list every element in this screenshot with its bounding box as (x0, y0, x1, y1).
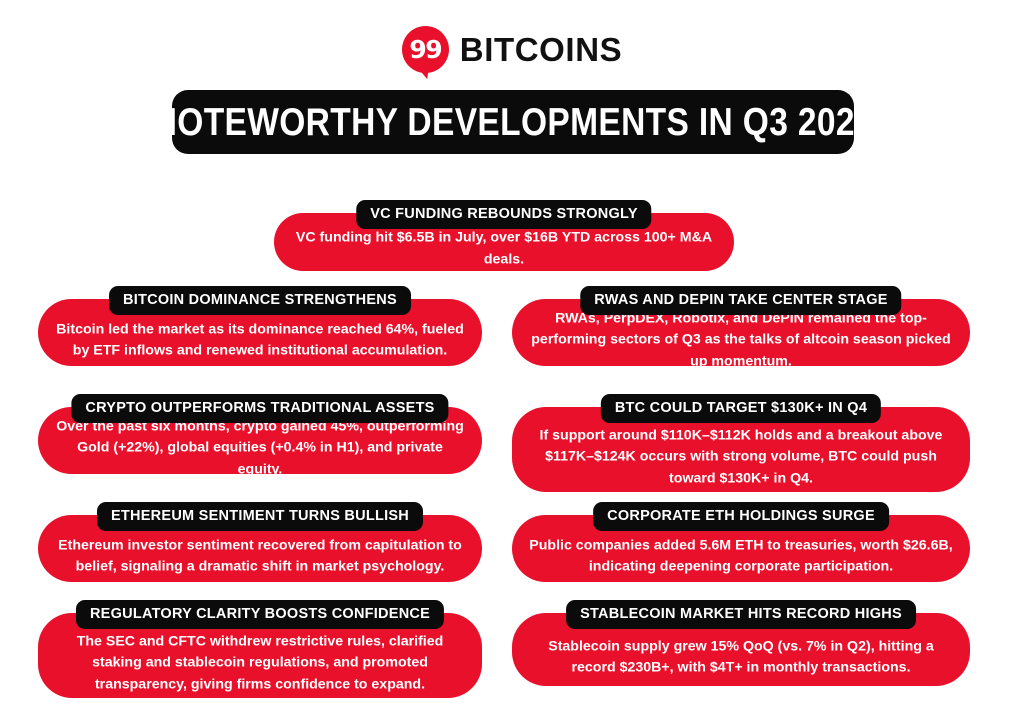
card-header-pill: REGULATORY CLARITY BOOSTS CONFIDENCE (76, 600, 444, 629)
highlight-card-btc-target: BTC COULD TARGET $130K+ IN Q4 If support… (512, 407, 970, 492)
card-header-label: STABLECOIN MARKET HITS RECORD HIGHS (580, 606, 902, 622)
highlight-card-corporate-eth-holdings: CORPORATE ETH HOLDINGS SURGE Public comp… (512, 515, 970, 582)
card-header-label: CRYPTO OUTPERFORMS TRADITIONAL ASSETS (85, 400, 434, 416)
highlight-card-ethereum-sentiment: ETHEREUM SENTIMENT TURNS BULLISH Ethereu… (38, 515, 482, 582)
brand-logo: 99 BITCOINS (0, 26, 1024, 73)
card-header-pill: STABLECOIN MARKET HITS RECORD HIGHS (566, 600, 916, 629)
card-header-label: REGULATORY CLARITY BOOSTS CONFIDENCE (90, 606, 430, 622)
card-header-label: RWAS AND DEPIN TAKE CENTER STAGE (594, 292, 887, 308)
card-header-label: VC FUNDING REBOUNDS STRONGLY (370, 206, 637, 222)
card-header-pill: BTC COULD TARGET $130K+ IN Q4 (601, 394, 881, 423)
card-header-pill: CORPORATE ETH HOLDINGS SURGE (593, 502, 889, 531)
card-body-text: Stablecoin supply grew 15% QoQ (vs. 7% i… (528, 636, 954, 679)
page-title-banner: NOTEWORTHY DEVELOPMENTS IN Q3 2025 (172, 90, 854, 154)
highlight-card-regulatory-clarity: REGULATORY CLARITY BOOSTS CONFIDENCE The… (38, 613, 482, 698)
card-body-text: Over the past six months, crypto gained … (54, 416, 466, 481)
highlight-card-crypto-outperforms: CRYPTO OUTPERFORMS TRADITIONAL ASSETS Ov… (38, 407, 482, 474)
card-header-pill: BITCOIN DOMINANCE STRENGTHENS (109, 286, 411, 315)
card-body-text: VC funding hit $6.5B in July, over $16B … (290, 227, 718, 270)
highlight-card-stablecoin-market: STABLECOIN MARKET HITS RECORD HIGHS Stab… (512, 613, 970, 686)
card-body-text: If support around $110K–$112K holds and … (528, 425, 954, 490)
card-header-label: BITCOIN DOMINANCE STRENGTHENS (123, 292, 397, 308)
speech-bubble-icon: 99 (402, 26, 449, 73)
card-header-pill: CRYPTO OUTPERFORMS TRADITIONAL ASSETS (71, 394, 448, 423)
card-header-pill: RWAS AND DEPIN TAKE CENTER STAGE (580, 286, 901, 315)
card-header-label: CORPORATE ETH HOLDINGS SURGE (607, 508, 875, 524)
card-body-text: RWAs, PerpDEX, Robotix, and DePIN remain… (528, 308, 954, 373)
card-body-text: The SEC and CFTC withdrew restrictive ru… (54, 631, 466, 696)
card-header-label: BTC COULD TARGET $130K+ IN Q4 (615, 400, 867, 416)
highlight-card-rwas-depin: RWAS AND DEPIN TAKE CENTER STAGE RWAs, P… (512, 299, 970, 366)
brand-wordmark: BITCOINS (460, 33, 622, 66)
highlight-card-vc-funding: VC FUNDING REBOUNDS STRONGLY VC funding … (274, 213, 734, 271)
card-body-text: Bitcoin led the market as its dominance … (54, 319, 466, 362)
card-body-text: Public companies added 5.6M ETH to treas… (528, 535, 954, 578)
brand-mark-text: 99 (409, 37, 441, 62)
page-title: NOTEWORTHY DEVELOPMENTS IN Q3 2025 (152, 103, 873, 142)
highlight-card-bitcoin-dominance: BITCOIN DOMINANCE STRENGTHENS Bitcoin le… (38, 299, 482, 366)
card-body-text: Ethereum investor sentiment recovered fr… (54, 535, 466, 578)
card-header-pill: ETHEREUM SENTIMENT TURNS BULLISH (97, 502, 423, 531)
card-header-pill: VC FUNDING REBOUNDS STRONGLY (356, 200, 651, 229)
card-header-label: ETHEREUM SENTIMENT TURNS BULLISH (111, 508, 409, 524)
